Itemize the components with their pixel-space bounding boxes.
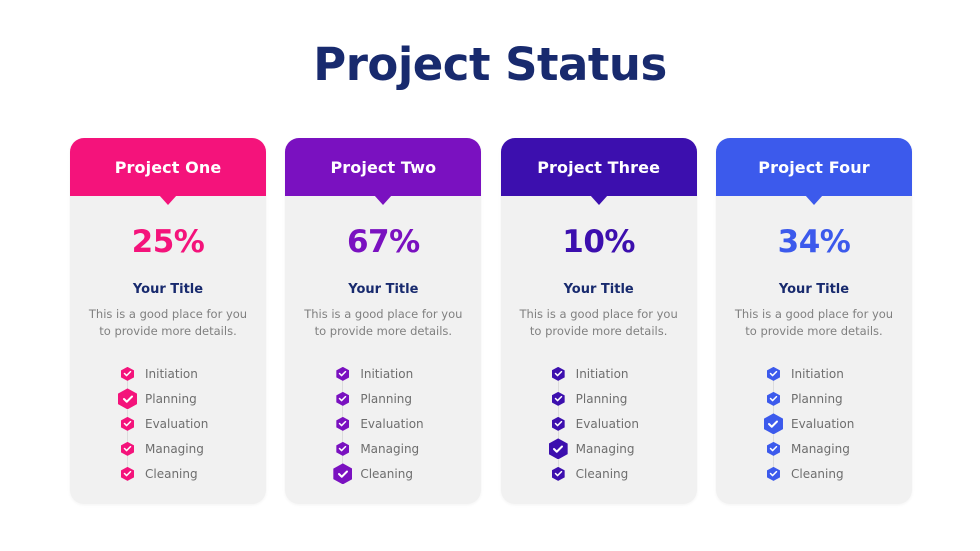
checklist-item-label: Evaluation [145, 417, 208, 431]
checklist-item-label: Managing [145, 442, 204, 456]
card-subtitle: Your Title [501, 282, 697, 297]
card-header-label: Project One [115, 158, 222, 177]
check-hexagon-icon [549, 438, 568, 459]
check-hexagon-icon [552, 392, 565, 406]
checklist-item-label: Evaluation [576, 417, 639, 431]
checklist-item-label: Evaluation [791, 417, 854, 431]
card-description: This is a good place for you to provide … [70, 306, 266, 339]
card-subtitle: Your Title [716, 282, 912, 297]
checklist-item[interactable]: Cleaning [333, 461, 481, 486]
check-hexagon-icon [336, 367, 349, 381]
check-hexagon-icon [767, 392, 780, 406]
card-header: Project One [70, 138, 266, 196]
card-subtitle: Your Title [70, 282, 266, 297]
check-hexagon-icon [764, 413, 783, 434]
check-hexagon-icon [121, 442, 134, 456]
check-hexagon-icon [767, 467, 780, 481]
check-hexagon-icon [118, 388, 137, 409]
card-percent-value: 10% [501, 224, 697, 260]
checklist-item[interactable]: Cleaning [118, 461, 266, 486]
checklist-item[interactable]: Managing [549, 436, 697, 461]
checklist-item-label: Planning [145, 392, 197, 406]
card-header-label: Project Three [537, 158, 660, 177]
checklist-item[interactable]: Evaluation [764, 411, 912, 436]
project-card[interactable]: Project Four34%Your TitleThis is a good … [716, 138, 912, 504]
card-header-label: Project Two [330, 158, 436, 177]
card-checklist: InitiationPlanningEvaluationManagingClea… [716, 361, 912, 486]
header-notch-triangle-icon [805, 195, 823, 205]
checklist-item-label: Planning [576, 392, 628, 406]
check-hexagon-icon [336, 442, 349, 456]
checklist-item-label: Planning [791, 392, 843, 406]
checklist-item-label: Cleaning [360, 467, 413, 481]
card-header: Project Four [716, 138, 912, 196]
card-checklist: InitiationPlanningEvaluationManagingClea… [285, 361, 481, 486]
card-percent-value: 67% [285, 224, 481, 260]
checklist-item-label: Planning [360, 392, 412, 406]
check-hexagon-icon [333, 463, 352, 484]
checklist-item-label: Initiation [576, 367, 629, 381]
checklist-item[interactable]: Evaluation [549, 411, 697, 436]
checklist-item-label: Cleaning [576, 467, 629, 481]
check-hexagon-icon [121, 417, 134, 431]
check-hexagon-icon [767, 442, 780, 456]
checklist-item[interactable]: Managing [333, 436, 481, 461]
project-cards-row: Project One25%Your TitleThis is a good p… [70, 138, 912, 504]
checklist-item-label: Managing [576, 442, 635, 456]
checklist-item[interactable]: Initiation [333, 361, 481, 386]
checklist-item-label: Managing [791, 442, 850, 456]
check-hexagon-icon [552, 467, 565, 481]
check-hexagon-icon [336, 392, 349, 406]
checklist-item[interactable]: Cleaning [764, 461, 912, 486]
checklist-item[interactable]: Evaluation [118, 411, 266, 436]
header-notch-triangle-icon [374, 195, 392, 205]
checklist-item[interactable]: Managing [764, 436, 912, 461]
project-card[interactable]: Project One25%Your TitleThis is a good p… [70, 138, 266, 504]
card-description: This is a good place for you to provide … [501, 306, 697, 339]
check-hexagon-icon [767, 367, 780, 381]
header-notch-triangle-icon [159, 195, 177, 205]
checklist-item[interactable]: Planning [118, 386, 266, 411]
checklist-item[interactable]: Evaluation [333, 411, 481, 436]
card-header: Project Two [285, 138, 481, 196]
checklist-item-label: Initiation [360, 367, 413, 381]
check-hexagon-icon [552, 367, 565, 381]
checklist-item-label: Initiation [791, 367, 844, 381]
card-percent-value: 25% [70, 224, 266, 260]
checklist-item[interactable]: Planning [333, 386, 481, 411]
checklist-item[interactable]: Initiation [118, 361, 266, 386]
card-checklist: InitiationPlanningEvaluationManagingClea… [70, 361, 266, 486]
card-description: This is a good place for you to provide … [716, 306, 912, 339]
header-notch-triangle-icon [590, 195, 608, 205]
checklist-item[interactable]: Initiation [764, 361, 912, 386]
checklist-item-label: Managing [360, 442, 419, 456]
slide-root: Project Status Project One25%Your TitleT… [0, 0, 980, 551]
checklist-item-label: Cleaning [791, 467, 844, 481]
checklist-item[interactable]: Planning [549, 386, 697, 411]
project-card[interactable]: Project Two67%Your TitleThis is a good p… [285, 138, 481, 504]
card-checklist: InitiationPlanningEvaluationManagingClea… [501, 361, 697, 486]
page-title: Project Status [0, 38, 980, 91]
checklist-item-label: Evaluation [360, 417, 423, 431]
checklist-item[interactable]: Initiation [549, 361, 697, 386]
card-header: Project Three [501, 138, 697, 196]
card-subtitle: Your Title [285, 282, 481, 297]
card-header-label: Project Four [758, 158, 869, 177]
card-description: This is a good place for you to provide … [285, 306, 481, 339]
checklist-item[interactable]: Cleaning [549, 461, 697, 486]
check-hexagon-icon [121, 467, 134, 481]
check-hexagon-icon [552, 417, 565, 431]
check-hexagon-icon [121, 367, 134, 381]
checklist-item[interactable]: Managing [118, 436, 266, 461]
checklist-item-label: Cleaning [145, 467, 198, 481]
checklist-item-label: Initiation [145, 367, 198, 381]
check-hexagon-icon [336, 417, 349, 431]
checklist-item[interactable]: Planning [764, 386, 912, 411]
card-percent-value: 34% [716, 224, 912, 260]
project-card[interactable]: Project Three10%Your TitleThis is a good… [501, 138, 697, 504]
